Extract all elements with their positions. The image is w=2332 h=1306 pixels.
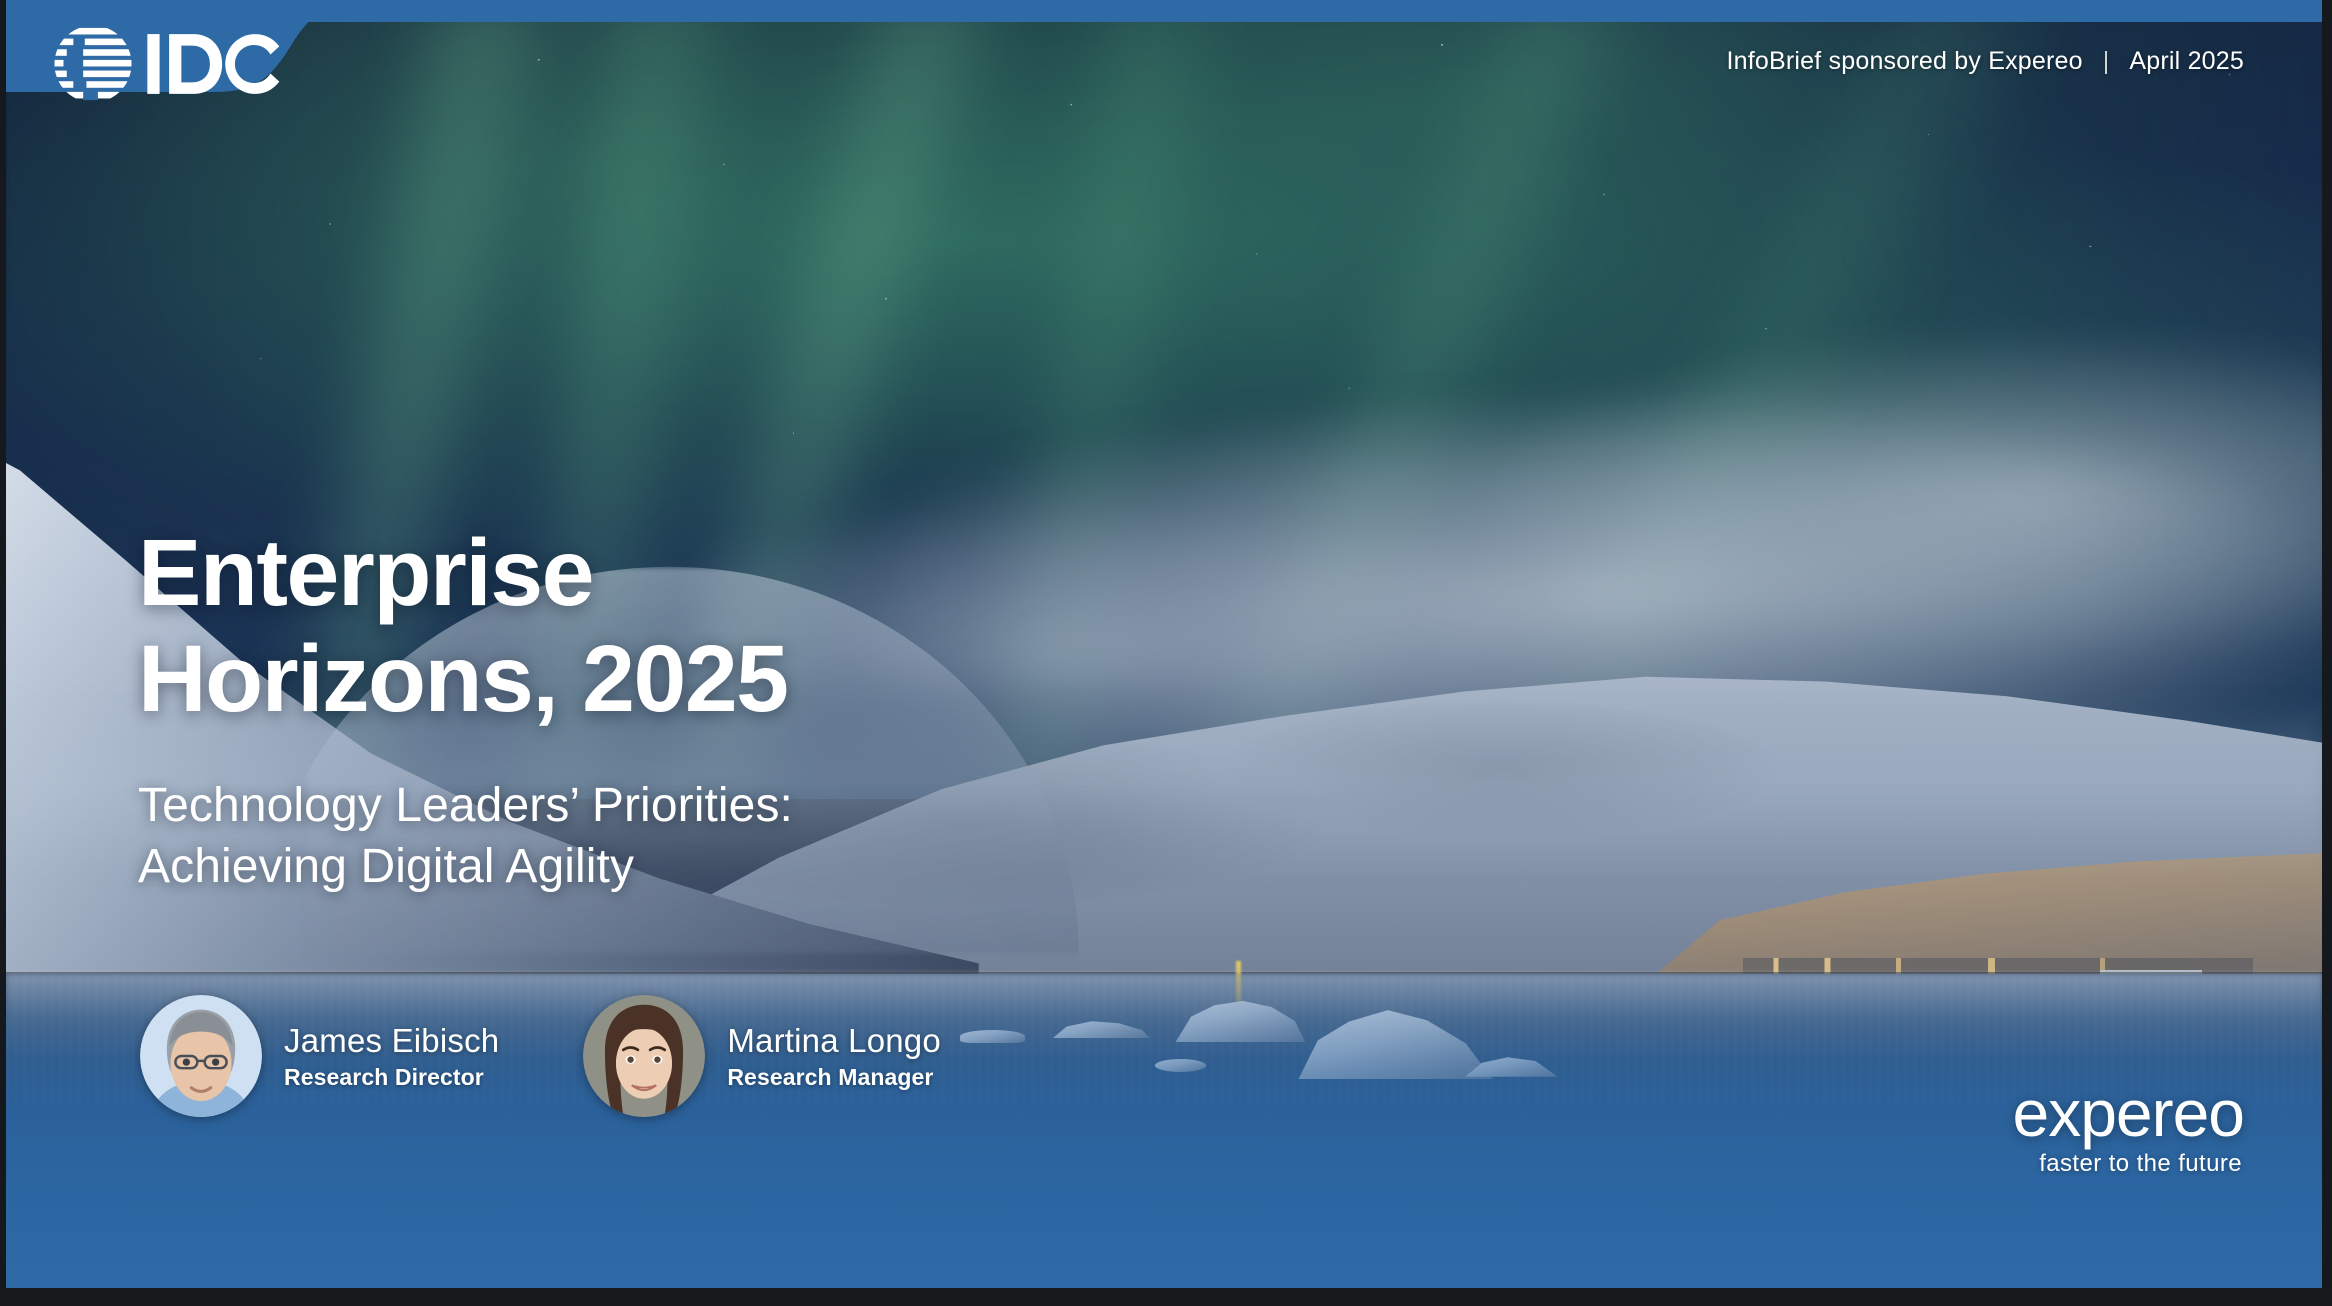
idc-wordmark [146,29,282,99]
page-subtitle: Technology Leaders’ Priorities: Achievin… [138,775,793,898]
title-line-1: Enterprise [138,520,788,626]
subtitle-line-1: Technology Leaders’ Priorities: [138,775,793,836]
author-info: Martina Longo Research Manager [727,1022,941,1091]
frame-edge-right [2322,0,2332,1306]
page-title: Enterprise Horizons, 2025 [138,520,788,733]
subtitle-line-2: Achieving Digital Agility [138,836,793,897]
frame-edge-bottom [0,1288,2332,1306]
cover-slide: InfoBrief sponsored by Expereo | April 2… [0,0,2332,1306]
expereo-tagline: faster to the future [2039,1150,2242,1178]
author-entry: Martina Longo Research Manager [583,995,941,1117]
header-meta: InfoBrief sponsored by Expereo | April 2… [1727,47,2245,76]
sponsor-line: InfoBrief sponsored by Expereo [1727,47,2083,76]
expereo-logo[interactable]: expereo faster to the future [2012,1080,2244,1178]
title-line-2: Horizons, 2025 [138,626,788,732]
expereo-wordmark: expereo [2012,1080,2244,1146]
idc-globe-icon [52,23,134,105]
avatar [140,995,262,1117]
author-entry: James Eibisch Research Director [140,995,499,1117]
author-info: James Eibisch Research Director [284,1022,499,1091]
meta-separator: | [2103,47,2110,76]
author-role: Research Director [284,1064,499,1091]
idc-logo[interactable] [52,22,284,106]
avatar [583,995,705,1117]
author-name: James Eibisch [284,1022,499,1060]
publication-date: April 2025 [2129,47,2244,76]
author-name: Martina Longo [727,1022,941,1060]
frame-edge-left [0,0,6,1306]
author-role: Research Manager [727,1064,941,1091]
author-list: James Eibisch Research Director [140,995,941,1117]
